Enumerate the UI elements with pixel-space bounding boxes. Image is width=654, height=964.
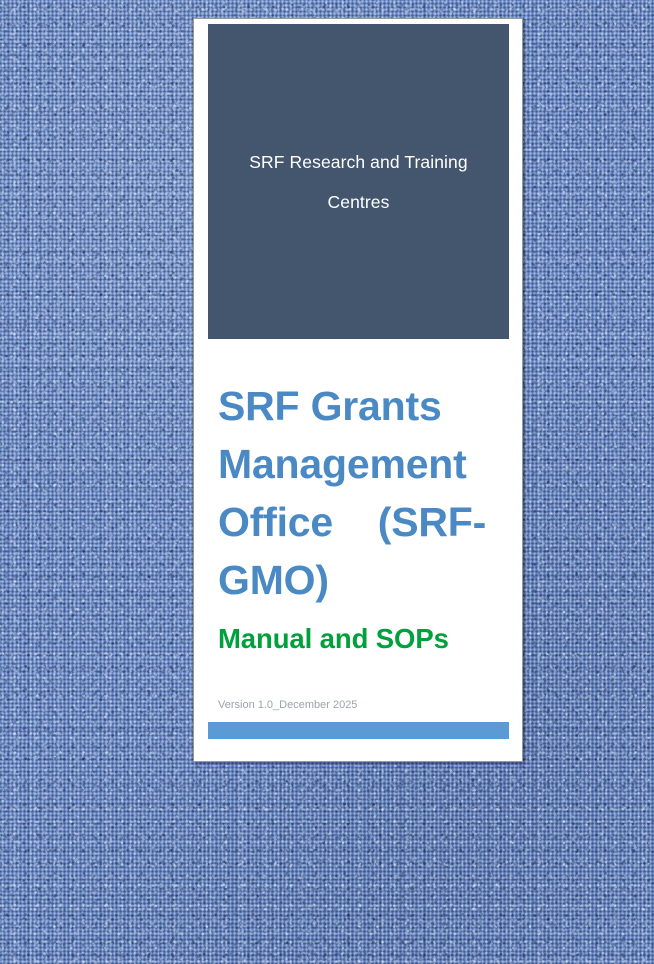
page-subtitle: Manual and SOPs (218, 621, 508, 657)
accent-bar (208, 722, 509, 739)
version-label: Version 1.0_December 2025 (218, 698, 508, 712)
document-cover-page: SRF Research and Training Centres SRF Gr… (193, 18, 523, 762)
banner-heading: SRF Research and Training Centres (244, 142, 474, 222)
cover-banner: SRF Research and Training Centres (208, 24, 509, 339)
page-title: SRF Grants Management Office (SRF-GMO) (218, 377, 508, 609)
